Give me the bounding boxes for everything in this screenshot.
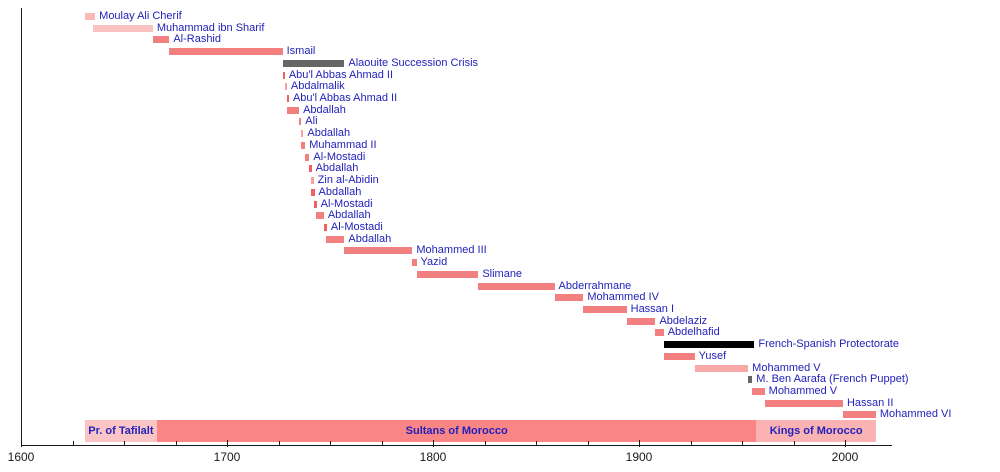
timeline-bar[interactable]: [301, 130, 303, 137]
timeline-rows-container: Moulay Ali CherifMuhammad ibn SharifAl-R…: [0, 0, 1000, 472]
x-axis-major-tick: [433, 440, 434, 447]
timeline-bar[interactable]: [664, 341, 755, 348]
timeline-row[interactable]: Yusef: [0, 351, 1000, 362]
timeline-bar[interactable]: [314, 201, 317, 208]
timeline-row[interactable]: Mohammed III: [0, 245, 1000, 256]
x-axis-tick-label: 2000: [832, 450, 859, 464]
timeline-bar[interactable]: [344, 247, 412, 254]
timeline-bar-label: Yazid: [421, 255, 448, 269]
timeline-bar[interactable]: [311, 189, 314, 196]
timeline-bar[interactable]: [287, 107, 299, 114]
era-bar-label: Pr. of Tafilalt: [85, 420, 157, 442]
timeline-bar[interactable]: [765, 400, 843, 407]
timeline-bar[interactable]: [309, 165, 311, 172]
timeline-bar-label: Mohammed V: [769, 384, 837, 398]
timeline-bar[interactable]: [85, 13, 95, 20]
timeline-bar[interactable]: [316, 212, 324, 219]
x-axis-minor-tick: [73, 441, 74, 446]
timeline-bar-label: French-Spanish Protectorate: [758, 337, 899, 351]
era-bar-label: Sultans of Morocco: [157, 420, 756, 442]
timeline-bar-label: Slimane: [482, 267, 522, 281]
timeline-row[interactable]: Al-Rashid: [0, 34, 1000, 45]
x-axis-minor-tick: [536, 441, 537, 446]
timeline-bar[interactable]: [287, 95, 289, 102]
timeline-row[interactable]: Muhammad ibn Sharif: [0, 23, 1000, 34]
timeline-row[interactable]: Abdallah: [0, 163, 1000, 174]
timeline-row[interactable]: Zin al-Abidin: [0, 175, 1000, 186]
timeline-bar[interactable]: [311, 177, 313, 184]
x-axis-minor-tick: [382, 441, 383, 446]
timeline-bar[interactable]: [283, 72, 285, 79]
timeline-bar[interactable]: [153, 36, 169, 43]
timeline-bar[interactable]: [555, 294, 584, 301]
timeline-bar[interactable]: [752, 388, 764, 395]
timeline-bar[interactable]: [748, 376, 752, 383]
timeline-row[interactable]: Muhammad II: [0, 140, 1000, 151]
timeline-bar[interactable]: [324, 224, 327, 231]
timeline-bar-label: Mohammed VI: [880, 407, 952, 421]
timeline-bar[interactable]: [655, 329, 663, 336]
timeline-bar[interactable]: [326, 236, 345, 243]
x-axis-tick-label: 1900: [626, 450, 653, 464]
timeline-row[interactable]: Abdallah: [0, 210, 1000, 221]
x-axis-major-tick: [639, 440, 640, 447]
timeline-bar[interactable]: [664, 353, 695, 360]
x-axis-minor-tick: [330, 441, 331, 446]
timeline-bar-label: Ismail: [287, 44, 316, 58]
x-axis-minor-tick: [485, 441, 486, 446]
timeline-row[interactable]: M. Ben Aarafa (French Puppet): [0, 374, 1000, 385]
x-axis-tick-label: 1600: [8, 450, 35, 464]
timeline-row[interactable]: Al-Mostadi: [0, 152, 1000, 163]
timeline-row[interactable]: Mohammed VI: [0, 409, 1000, 420]
timeline-bar[interactable]: [627, 318, 656, 325]
timeline-row[interactable]: Alaouite Succession Crisis: [0, 58, 1000, 69]
timeline-bar[interactable]: [285, 83, 287, 90]
timeline-row[interactable]: Abu'l Abbas Ahmad II: [0, 93, 1000, 104]
timeline-bar[interactable]: [305, 154, 309, 161]
timeline-row[interactable]: Al-Mostadi: [0, 199, 1000, 210]
timeline-row[interactable]: French-Spanish Protectorate: [0, 339, 1000, 350]
x-axis-minor-tick: [794, 441, 795, 446]
timeline-row[interactable]: Abdallah: [0, 234, 1000, 245]
timeline-row[interactable]: Ismail: [0, 46, 1000, 57]
x-axis-minor-tick: [176, 441, 177, 446]
timeline-row[interactable]: Abdalmalik: [0, 81, 1000, 92]
x-axis-major-tick: [845, 440, 846, 447]
timeline-bar[interactable]: [695, 365, 749, 372]
timeline-row[interactable]: Abderrahmane: [0, 281, 1000, 292]
alaouite-dynasty-timeline-chart: Moulay Ali CherifMuhammad ibn SharifAl-R…: [0, 0, 1000, 472]
x-axis-major-tick: [21, 440, 22, 447]
x-axis-minor-tick: [691, 441, 692, 446]
timeline-row[interactable]: Abdallah: [0, 105, 1000, 116]
timeline-row[interactable]: Abdallah: [0, 128, 1000, 139]
timeline-bar[interactable]: [301, 142, 305, 149]
timeline-row[interactable]: Hassan II: [0, 398, 1000, 409]
timeline-row[interactable]: Abdallah: [0, 187, 1000, 198]
timeline-bar[interactable]: [283, 60, 345, 67]
x-axis-minor-tick: [124, 441, 125, 446]
x-axis-tick-label: 1800: [420, 450, 447, 464]
x-axis-minor-tick: [742, 441, 743, 446]
timeline-bar[interactable]: [93, 25, 153, 32]
timeline-bar-label: Abdelhafid: [668, 325, 720, 339]
timeline-row[interactable]: Abdelaziz: [0, 316, 1000, 327]
timeline-bar[interactable]: [299, 118, 301, 125]
timeline-bar-label: Al-Rashid: [173, 32, 221, 46]
timeline-row[interactable]: Abu'l Abbas Ahmad II: [0, 70, 1000, 81]
timeline-bar[interactable]: [169, 48, 282, 55]
x-axis-minor-tick: [588, 441, 589, 446]
timeline-bar[interactable]: [583, 306, 626, 313]
timeline-bar[interactable]: [412, 259, 416, 266]
timeline-bar-label: Yusef: [699, 349, 727, 363]
era-bar-label: Kings of Morocco: [756, 420, 875, 442]
x-axis-major-tick: [227, 440, 228, 447]
timeline-bar[interactable]: [478, 283, 554, 290]
timeline-bar[interactable]: [417, 271, 479, 278]
timeline-row[interactable]: Hassan I: [0, 304, 1000, 315]
timeline-bar[interactable]: [843, 411, 876, 418]
timeline-row[interactable]: Ali: [0, 116, 1000, 127]
x-axis-tick-label: 1700: [214, 450, 241, 464]
timeline-row[interactable]: Al-Mostadi: [0, 222, 1000, 233]
timeline-row[interactable]: Mohammed IV: [0, 292, 1000, 303]
x-axis-minor-tick: [279, 441, 280, 446]
timeline-row[interactable]: Moulay Ali Cherif: [0, 11, 1000, 22]
timeline-bar-label: Abdallah: [348, 232, 391, 246]
timeline-row[interactable]: Slimane: [0, 269, 1000, 280]
